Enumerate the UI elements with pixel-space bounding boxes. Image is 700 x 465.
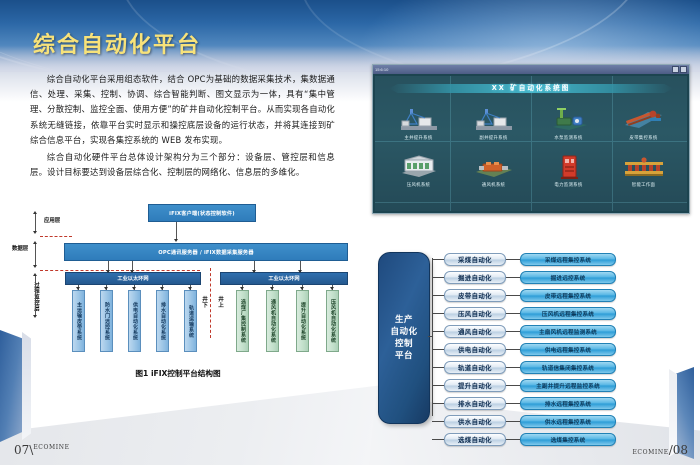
flow-row: 掘进自动化 掘进远控系统	[432, 270, 690, 285]
flow-system[interactable]: 排水远程集控系统	[520, 397, 616, 410]
box-ring-network-surface[interactable]: 工业以太环网	[220, 272, 348, 285]
arrow-surface-2	[270, 287, 274, 290]
layer-label-data: 数据层	[12, 244, 28, 252]
flow-hub-line-4: 平台	[395, 351, 413, 361]
arrow-underground-1	[76, 287, 80, 290]
scada-clock: 15:6:10	[375, 67, 388, 72]
flow-connector-right	[506, 421, 520, 422]
layer-arrow-down-data	[33, 265, 37, 268]
production-automation-flowchart: 生产 自动化 控制 平台 采煤自动化 采煤远程集控系统 掘进自动化 掘进远控系统…	[372, 230, 690, 445]
scada-item-label: 主井提升系统	[404, 135, 432, 141]
scada-window[interactable]: 15:6:10 XX 矿自动化系统图	[372, 64, 690, 214]
flow-connector-left	[432, 349, 444, 350]
page-title: 综合自动化平台	[33, 27, 201, 59]
layer-axis-application	[35, 214, 36, 232]
scada-item-compressor-house[interactable]: 压风机系统	[381, 148, 456, 196]
scada-icon-grid: 主井提升系统 副井提升系统	[381, 100, 681, 195]
flow-hub-line-2: 自动化	[390, 327, 417, 337]
flow-system[interactable]: 主扇风机远程监测系统	[520, 325, 616, 338]
arrow-surface-1	[240, 287, 244, 290]
scada-item-main-hoist[interactable]: 主井提升系统	[381, 100, 456, 148]
flow-stage[interactable]: 皮带自动化	[444, 289, 506, 302]
flow-connector-left	[432, 439, 444, 440]
flow-system[interactable]: 掘进远控系统	[520, 271, 616, 284]
scada-item-label: 水泵监测系统	[554, 135, 582, 141]
flow-connector-right	[506, 367, 520, 368]
scada-item-smart-longwall[interactable]: 智能工作面	[606, 148, 681, 196]
footer-brand-right: ECOMINE	[632, 449, 668, 456]
box-underground-system-5[interactable]: 轨道运输系统	[184, 290, 197, 352]
box-ifix-client[interactable]: iFIX客户端(状态控制软件)	[148, 204, 256, 222]
layer-axis-process	[35, 276, 36, 316]
flow-connector-left	[432, 421, 444, 422]
flow-row: 通风自动化 主扇风机远程监测系统	[432, 324, 690, 339]
flow-connector-right	[506, 439, 520, 440]
flow-connector-left	[432, 313, 444, 314]
hoist-icon	[472, 107, 516, 133]
flow-stage[interactable]: 供水自动化	[444, 415, 506, 428]
flow-row: 供电自动化 供电远程集控系统	[432, 342, 690, 357]
flow-row: 皮带自动化 皮带远程集控系统	[432, 288, 690, 303]
box-underground-system-4[interactable]: 排水自动化系统	[156, 290, 169, 352]
body-text: 综合自动化平台采用组态软件，结合 OPC为基础的数据采集技术，集数据通信、处理、…	[30, 72, 335, 182]
close-button[interactable]	[680, 66, 687, 73]
flow-stage[interactable]: 选煤自动化	[444, 433, 506, 446]
flow-connector-left	[432, 277, 444, 278]
layer-label-application: 应用层	[44, 216, 60, 224]
box-underground-system-1[interactable]: 主运输皮带系统	[72, 290, 85, 352]
scada-item-label: 通风机系统	[482, 182, 505, 188]
scada-item-pump-monitor[interactable]: 水泵监测系统	[531, 100, 606, 148]
dash-divider-data	[40, 270, 200, 271]
flow-row: 提升自动化 主副井提升远程监控系统	[432, 378, 690, 393]
scada-item-ventilation-fan[interactable]: 通风机系统	[456, 148, 531, 196]
flow-stage[interactable]: 压风自动化	[444, 307, 506, 320]
layer-arrow-up-application	[33, 211, 37, 214]
arrow-server-ring-right	[252, 270, 256, 273]
flow-connector-left	[432, 259, 444, 260]
scada-item-conveyor[interactable]: 皮带集控系统	[606, 100, 681, 148]
scada-item-label: 智能工作面	[632, 182, 655, 188]
flow-system[interactable]: 供电远程集控系统	[520, 343, 616, 356]
layer-arrow-up-data	[33, 241, 37, 244]
figure-caption: 图1 iFIX控制平台结构图	[8, 368, 348, 379]
dash-divider-application	[40, 236, 72, 237]
arrow-server-ring-left-2	[130, 270, 134, 273]
scada-header: XX 矿自动化系统图	[375, 80, 687, 96]
flow-connector-right	[506, 331, 520, 332]
flow-connector-left	[432, 295, 444, 296]
longwall-icon	[622, 154, 666, 180]
arrow-client-to-server	[174, 239, 178, 242]
layer-arrow-down-application	[33, 231, 37, 234]
footer-brand-left: ECOMINE	[33, 444, 69, 451]
flow-connector-right	[506, 385, 520, 386]
flow-stage[interactable]: 提升自动化	[444, 379, 506, 392]
footer-left: 07\ECOMINE	[14, 443, 70, 457]
scada-item-power-monitor[interactable]: 电力监测系统	[531, 148, 606, 196]
layer-arrow-up-process	[33, 273, 37, 276]
flow-stage[interactable]: 排水自动化	[444, 397, 506, 410]
flow-connector-right	[506, 295, 520, 296]
slide-page: 综合自动化平台 综合自动化平台采用组态软件，结合 OPC为基础的数据采集技术，集…	[0, 0, 700, 465]
paragraph-2: 综合自动化硬件平台总体设计架构分为三个部分：设备层、管控层和信息层。设计目标要达…	[30, 150, 335, 180]
flow-system[interactable]: 采煤远程集控系统	[520, 253, 616, 266]
flow-stage[interactable]: 通风自动化	[444, 325, 506, 338]
label-underground: 井下	[200, 296, 208, 308]
flow-system[interactable]: 主副井提升远程监控系统	[520, 379, 616, 392]
arrow-underground-5	[188, 287, 192, 290]
flow-row: 供水自动化 供水远程集控系统	[432, 414, 690, 429]
scada-item-label: 皮带集控系统	[629, 135, 657, 141]
window-controls[interactable]	[672, 66, 687, 73]
power-cabinet-icon	[547, 154, 591, 180]
flow-connector-left	[432, 385, 444, 386]
box-opc-server[interactable]: OPC通讯服务器 / iFIX数据采集服务器	[64, 243, 348, 261]
layer-label-process: 过程监控层	[32, 282, 40, 312]
box-surface-system-4[interactable]: 压风机自动化系统	[326, 290, 339, 352]
footer-page-left: 07\	[14, 443, 33, 457]
minimize-button[interactable]	[672, 66, 679, 73]
flow-connector-right	[506, 277, 520, 278]
flow-system[interactable]: 供水远程集控系统	[520, 415, 616, 428]
arrow-underground-3	[132, 287, 136, 290]
flow-stage[interactable]: 供电自动化	[444, 343, 506, 356]
scada-title: XX 矿自动化系统图	[375, 82, 687, 92]
flow-row: 采煤自动化 采煤远程集控系统	[432, 252, 690, 267]
footer-page-right: /08	[669, 443, 688, 457]
flow-row: 排水自动化 排水远程集控系统	[432, 396, 690, 411]
dash-divider-underground-surface	[210, 268, 211, 338]
flow-stage[interactable]: 轨道自动化	[444, 361, 506, 374]
box-surface-system-3[interactable]: 提升自动化系统	[296, 290, 309, 352]
arrow-surface-4	[330, 287, 334, 290]
flow-system[interactable]: 压风机远程集控系统	[520, 307, 616, 320]
flow-hub[interactable]: 生产 自动化 控制 平台	[378, 252, 430, 424]
hoist-icon	[397, 107, 441, 133]
scada-item-label: 电力监测系统	[554, 182, 582, 188]
flow-hub-line-1: 生产	[395, 315, 413, 325]
arrow-server-ring-left	[106, 270, 110, 273]
pump-icon	[547, 107, 591, 133]
arrow-underground-2	[104, 287, 108, 290]
flow-system[interactable]: 皮带远程集控系统	[520, 289, 616, 302]
figure-ifix-architecture: 应用层 数据层 过程监控层 iFIX客户端(状态控制软件) OPC通讯服务器 /…	[8, 200, 348, 390]
scada-canvas: XX 矿自动化系统图 主井提升系统	[375, 76, 687, 211]
scada-titlebar[interactable]: 15:6:10	[373, 65, 689, 74]
arrow-server-ring-right-2	[298, 270, 302, 273]
compressor-icon	[397, 154, 441, 180]
scada-item-label: 压风机系统	[407, 182, 430, 188]
arrow-underground-4	[160, 287, 164, 290]
link-client-to-server	[176, 222, 177, 240]
flow-system[interactable]: 选煤集控系统	[520, 433, 616, 446]
flow-connector-right	[506, 403, 520, 404]
flow-hub-line-3: 控制	[395, 339, 413, 349]
flow-row: 压风自动化 压风机远程集控系统	[432, 306, 690, 321]
flow-connector-right	[506, 313, 520, 314]
flow-connector-right	[506, 349, 520, 350]
flow-row: 轨道自动化 轨道信集闭集控系统	[432, 360, 690, 375]
box-surface-system-2[interactable]: 通风机自动化系统	[266, 290, 279, 352]
layer-arrow-down-process	[33, 315, 37, 318]
flow-connector-right	[506, 259, 520, 260]
box-surface-system-1[interactable]: 选煤厂集控制系统	[236, 290, 249, 352]
conveyor-icon	[622, 107, 666, 133]
box-underground-system-3[interactable]: 供电自动化系统	[128, 290, 141, 352]
scada-item-label: 副井提升系统	[479, 135, 507, 141]
arrow-surface-3	[300, 287, 304, 290]
label-surface: 井上	[216, 296, 224, 308]
flow-stage[interactable]: 掘进自动化	[444, 271, 506, 284]
flow-connector-left	[432, 403, 444, 404]
box-ring-network-underground[interactable]: 工业以太环网	[65, 272, 201, 285]
flow-connector-left	[432, 367, 444, 368]
box-underground-system-2[interactable]: 防水门远控系统	[100, 290, 113, 352]
flow-connector-left	[432, 331, 444, 332]
flow-system[interactable]: 轨道信集闭集控系统	[520, 361, 616, 374]
fan-icon	[472, 154, 516, 180]
paragraph-1: 综合自动化平台采用组态软件，结合 OPC为基础的数据采集技术，集数据通信、处理、…	[30, 72, 335, 148]
footer-right: ECOMINE/08	[632, 443, 688, 457]
scada-item-aux-hoist[interactable]: 副井提升系统	[456, 100, 531, 148]
layer-axis-data	[35, 244, 36, 266]
flow-stage[interactable]: 采煤自动化	[444, 253, 506, 266]
